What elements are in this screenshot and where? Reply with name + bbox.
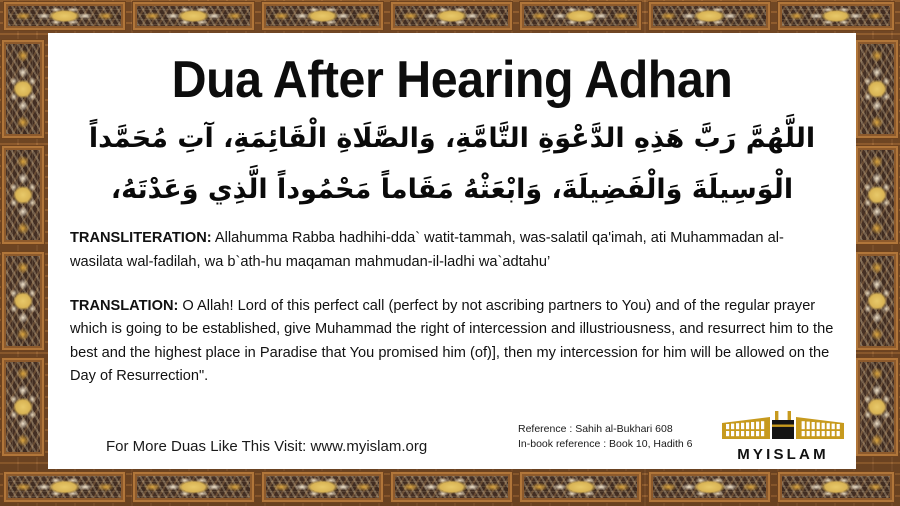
border-tile: [2, 252, 44, 350]
border-tile: [778, 2, 894, 30]
visit-website-text[interactable]: For More Duas Like This Visit: www.myisl…: [106, 438, 427, 455]
border-tile: [4, 472, 125, 502]
hadith-reference: Reference : Sahih al-Bukhari 608 In-book…: [518, 422, 693, 454]
border-tile: [391, 472, 512, 502]
kaaba-mosque-icon: [720, 411, 846, 445]
myislam-logo[interactable]: MYISLAM: [720, 411, 846, 463]
border-tile: [649, 472, 770, 502]
content-panel: Dua After Hearing Adhan اللَّهُمَّ رَبَّ…: [48, 33, 856, 469]
transliteration-paragraph: TRANSLITERATION: Allahumma Rabba hadhihi…: [70, 227, 834, 274]
border-tile: [391, 2, 512, 30]
reference-line-2: In-book reference : Book 10, Hadith 6: [518, 437, 693, 453]
translation-text: O Allah! Lord of this perfect call (perf…: [70, 298, 833, 385]
logo-wordmark: MYISLAM: [720, 446, 846, 463]
border-tile: [856, 146, 898, 244]
translation-paragraph: TRANSLATION: O Allah! Lord of this perfe…: [70, 295, 834, 390]
page-title: Dua After Hearing Adhan: [76, 53, 827, 108]
card-footer: For More Duas Like This Visit: www.myisl…: [48, 399, 856, 469]
dua-card: Dua After Hearing Adhan اللَّهُمَّ رَبَّ…: [0, 0, 900, 506]
border-tile: [2, 358, 44, 456]
transliteration-label: TRANSLITERATION:: [70, 230, 212, 246]
reference-line-1: Reference : Sahih al-Bukhari 608: [518, 422, 693, 438]
border-tile: [520, 2, 641, 30]
border-tile: [856, 40, 898, 138]
border-tile: [778, 472, 894, 502]
border-tile: [262, 472, 383, 502]
border-tile: [262, 2, 383, 30]
border-tile: [520, 472, 641, 502]
border-tile: [133, 472, 254, 502]
border-tile: [133, 2, 254, 30]
border-tile: [856, 358, 898, 456]
border-tile: [4, 2, 125, 30]
arabic-line-2: الْوَسِيلَةَ وَالْفَضِيلَةَ، وَابْعَثْهُ…: [62, 169, 842, 211]
translation-label: TRANSLATION:: [70, 298, 178, 314]
arabic-line-1: اللَّهُمَّ رَبَّ هَذِهِ الدَّعْوَةِ التَ…: [62, 118, 842, 160]
border-tile: [2, 40, 44, 138]
border-tile: [649, 2, 770, 30]
border-tile: [2, 146, 44, 244]
border-tile: [856, 252, 898, 350]
